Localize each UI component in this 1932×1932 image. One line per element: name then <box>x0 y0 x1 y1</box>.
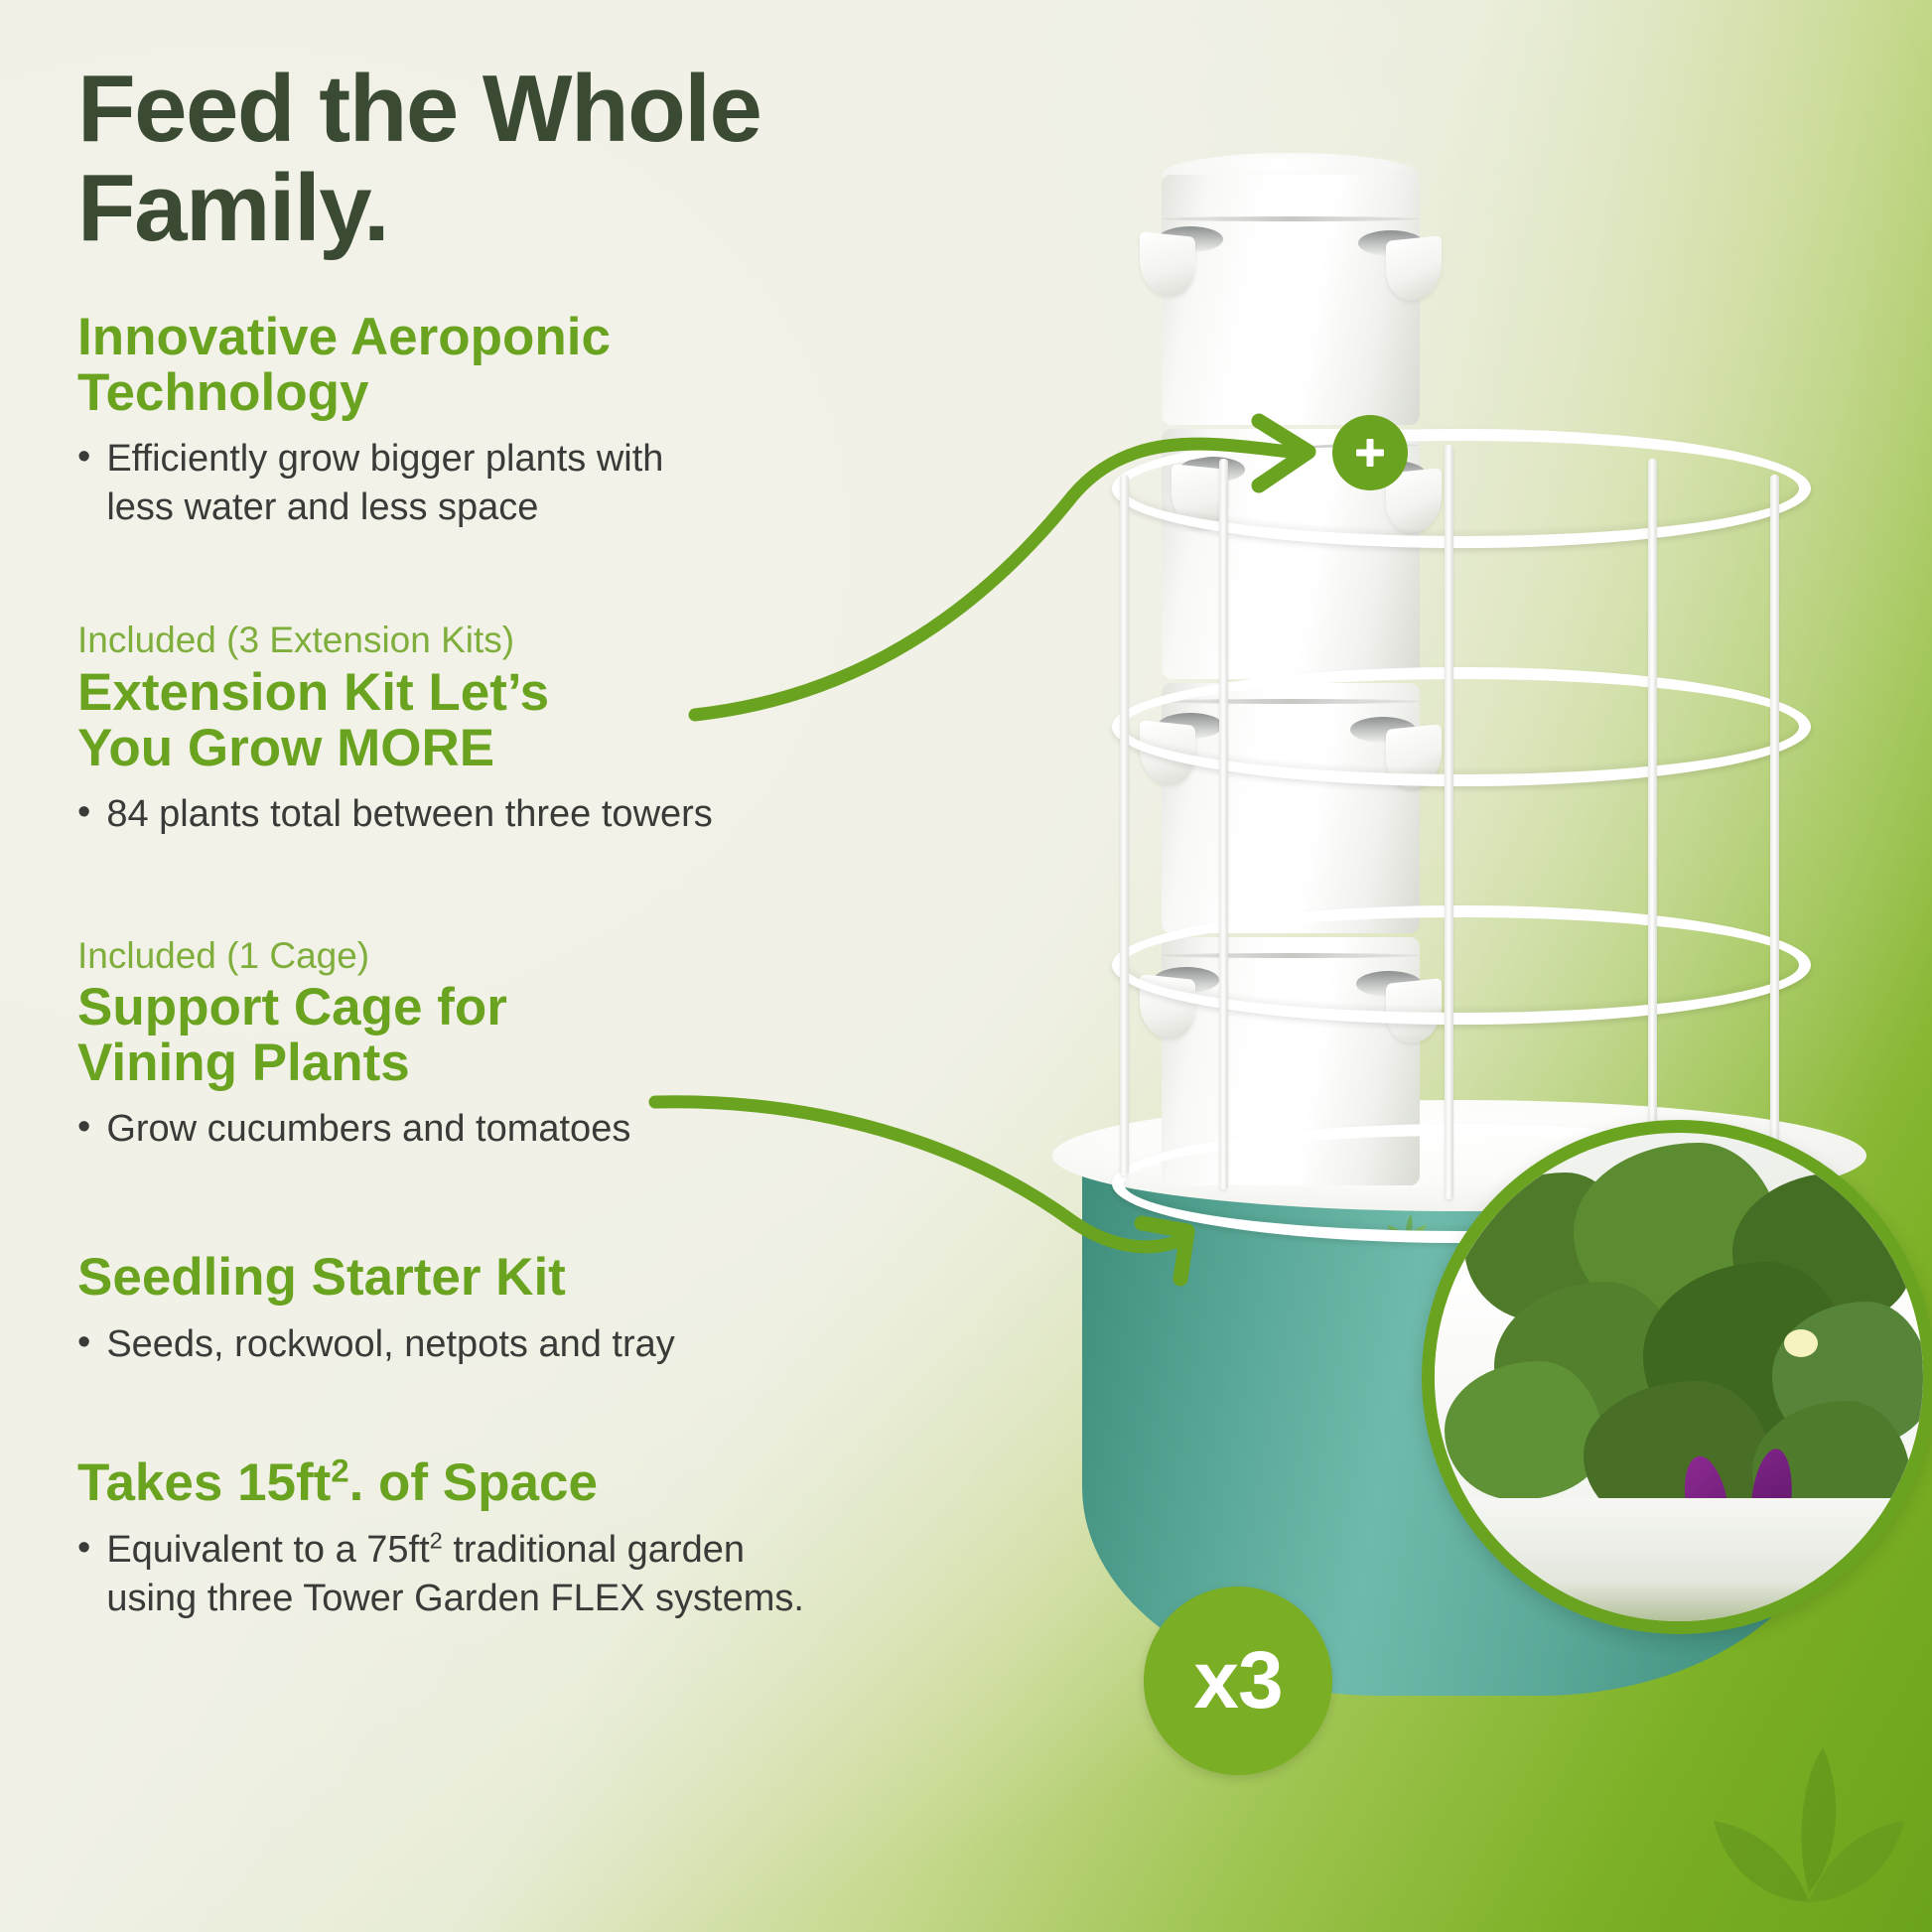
feature-heading-line2: Technology <box>77 365 1090 421</box>
feature-bullet: • Equivalent to a 75ft2 traditional gard… <box>77 1526 1090 1622</box>
feature-bullet: • Efficiently grow bigger plants with le… <box>77 435 1090 531</box>
feature-aeroponic-technology: Innovative Aeroponic Technology • Effici… <box>77 310 1090 532</box>
cage-post <box>1120 475 1129 1175</box>
bullet-line1: Seeds, rockwool, netpots and tray <box>106 1320 674 1369</box>
cage-ring-middle <box>1112 667 1811 786</box>
cage-post <box>1219 459 1228 1189</box>
feature-eyebrow: Included (3 Extension Kits) <box>77 619 1090 662</box>
feature-bullet: • 84 plants total between three towers <box>77 790 1090 839</box>
page-title: Feed the Whole Family. <box>77 60 1090 258</box>
bullet-superscript: 2 <box>430 1528 443 1554</box>
bullet-text-a: Equivalent to a 75ft <box>106 1529 429 1571</box>
feature-support-cage: Included (1 Cage) Support Cage for Vinin… <box>77 934 1090 1154</box>
bullet-marker: • <box>77 435 90 481</box>
three-leaf-logo-icon <box>1710 1743 1908 1912</box>
cage-post <box>1648 459 1657 1189</box>
bullet-line1: Grow cucumbers and tomatoes <box>106 1105 630 1154</box>
bullet-marker: • <box>77 1320 90 1366</box>
feature-heading-line1: Support Cage for <box>77 980 1090 1035</box>
feature-heading-line1: Innovative Aeroponic <box>77 310 1090 365</box>
infographic-canvas: x3 Feed the Whole Family. Innovative Aer… <box>0 0 1932 1932</box>
feature-space-footprint: Takes 15ft2. of Space • Equivalent to a … <box>77 1454 1090 1623</box>
feature-heading-line1: Seedling Starter Kit <box>77 1249 1090 1307</box>
quantity-badge-x3: x3 <box>1144 1587 1332 1775</box>
feature-extension-kit: Included (3 Extension Kits) Extension Ki… <box>77 619 1090 838</box>
tower-segment-1 <box>1162 175 1420 425</box>
eggplant-flower <box>1784 1329 1818 1357</box>
cage-ring-top <box>1112 429 1811 548</box>
feature-bullet: • Seeds, rockwool, netpots and tray <box>77 1320 1090 1369</box>
cage-ring-bottom <box>1112 905 1811 1025</box>
cage-post <box>1445 445 1453 1199</box>
quantity-badge-label: x3 <box>1193 1634 1282 1727</box>
feature-heading-line1: Takes 15ft2. of Space <box>77 1454 1090 1512</box>
bullet-line1: 84 plants total between three towers <box>106 790 713 839</box>
bullet-text-b: traditional garden <box>443 1529 745 1571</box>
feature-heading-line2: Vining Plants <box>77 1035 1090 1091</box>
bullet-line1: Efficiently grow bigger plants with <box>106 438 663 480</box>
bullet-line2: less water and less space <box>106 486 538 528</box>
feature-seedling-starter-kit: Seedling Starter Kit • Seeds, rockwool, … <box>77 1249 1090 1369</box>
feature-heading-line1: Extension Kit Let’s <box>77 665 1090 721</box>
bullet-marker: • <box>77 1105 90 1151</box>
bullet-marker: • <box>77 790 90 836</box>
bullet-marker: • <box>77 1526 90 1572</box>
bullet-line2: using three Tower Garden FLEX systems. <box>106 1578 804 1619</box>
heading-text-b: . of Space <box>349 1453 598 1512</box>
cage-post <box>1770 475 1779 1175</box>
plus-icon <box>1332 415 1408 490</box>
eggplant-closeup-inset <box>1422 1120 1932 1634</box>
feature-list: Feed the Whole Family. Innovative Aeropo… <box>77 60 1090 1668</box>
heading-superscript: 2 <box>331 1451 348 1488</box>
feature-bullet: • Grow cucumbers and tomatoes <box>77 1105 1090 1154</box>
heading-text-a: Takes 15ft <box>77 1453 331 1512</box>
feature-heading-line2: You Grow MORE <box>77 721 1090 776</box>
feature-eyebrow: Included (1 Cage) <box>77 934 1090 978</box>
